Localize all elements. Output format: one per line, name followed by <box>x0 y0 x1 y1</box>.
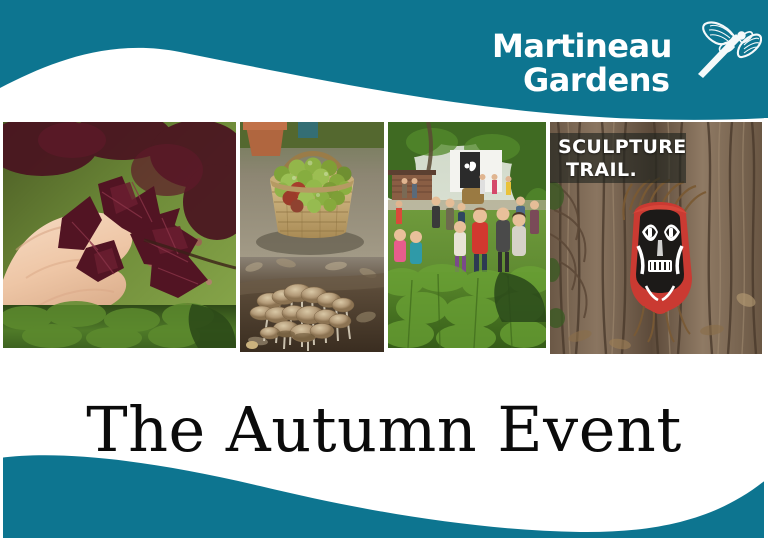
sculpture-caption-line1: SCULPTURE <box>558 136 687 158</box>
hand-holding-autumn-leaves-photo <box>2 122 236 348</box>
header-banner-shape <box>0 0 768 125</box>
photo-panel-apples-mushrooms <box>240 122 384 352</box>
visitors-in-garden-photo <box>388 122 546 348</box>
basket-of-apples-photo <box>240 122 384 257</box>
cluster-of-mushrooms-photo <box>240 257 384 352</box>
frame-left-margin <box>0 118 3 541</box>
footer-wave <box>0 430 768 541</box>
sculpture-caption-line2: TRAIL. <box>558 159 686 182</box>
header-banner: Martineau Gardens <box>0 0 768 125</box>
photo-panel-crowd <box>388 122 546 348</box>
photo-panel-sculpture: SCULPTURE TRAIL. <box>550 122 762 354</box>
frame-right-margin <box>764 118 768 541</box>
poster-canvas: Martineau Gardens <box>0 0 768 541</box>
footer-wave-shape <box>0 430 768 541</box>
photo-strip: SCULPTURE TRAIL. <box>0 122 768 356</box>
photo-panel-leaf <box>2 122 236 348</box>
sculpture-trail-caption: SCULPTURE TRAIL. <box>550 133 686 183</box>
